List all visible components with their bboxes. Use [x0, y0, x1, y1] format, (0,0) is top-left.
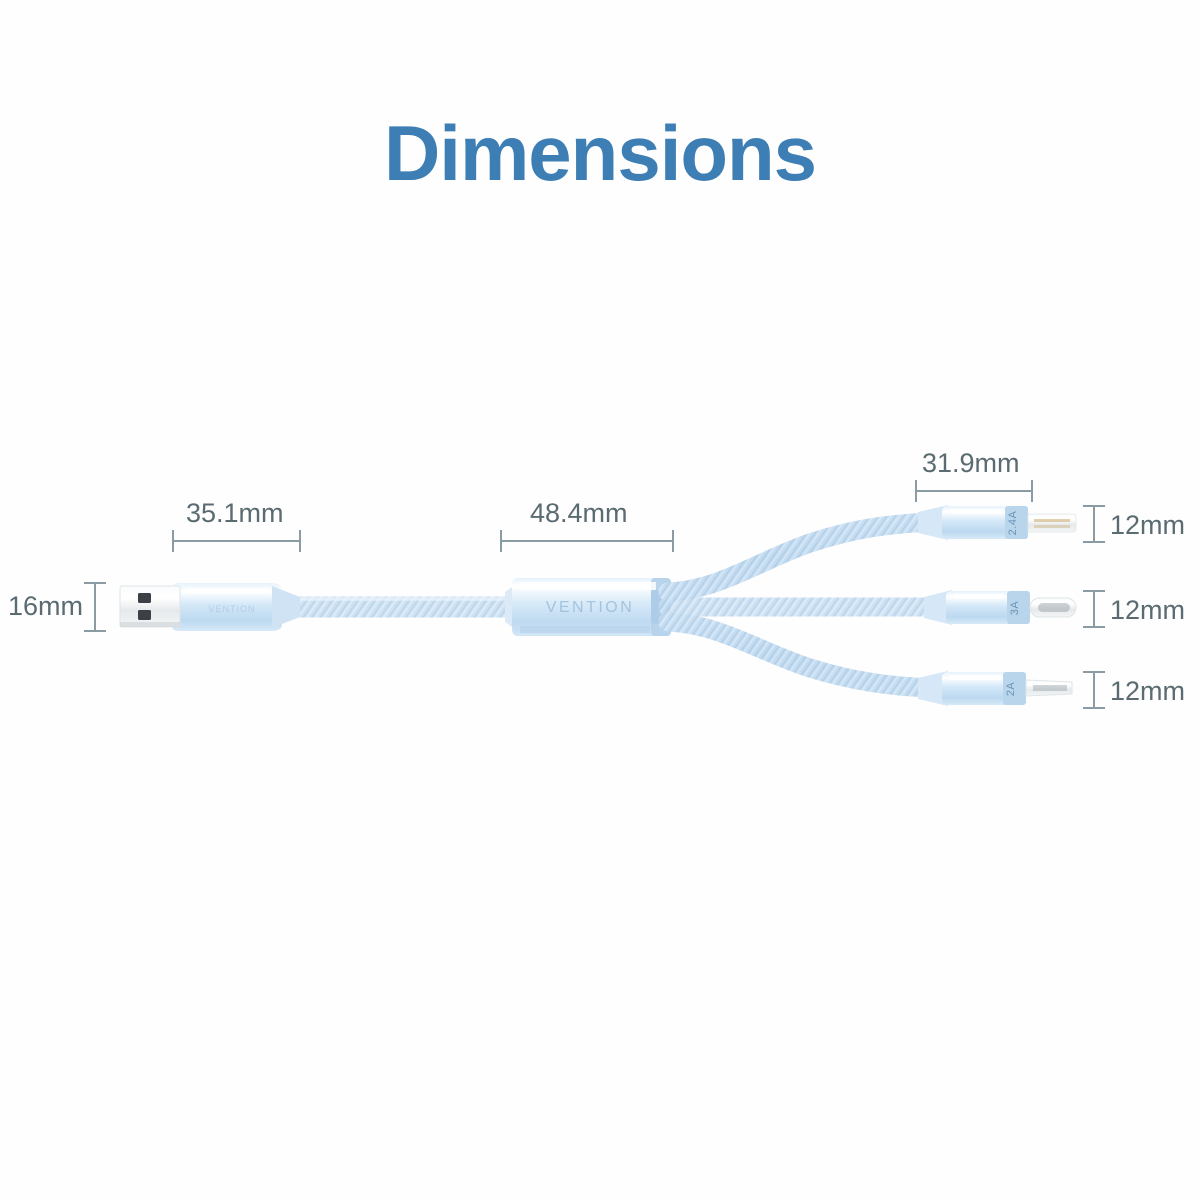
dimension-shaft [500, 540, 674, 542]
usb-a-connector: VENTION [120, 583, 300, 631]
dimension-shaft [915, 490, 1033, 492]
dimension-cap-bottom [1083, 626, 1105, 628]
dimension-bar-usb-a-width [84, 582, 106, 632]
svg-text:VENTION: VENTION [546, 599, 635, 616]
usb-c-connector: 3A [924, 590, 1076, 625]
dimension-label-tip-length: 31.9mm [922, 448, 1020, 479]
svg-text:VENTION: VENTION [208, 604, 255, 614]
dimensions-infographic: Dimensions [0, 0, 1200, 1200]
dimension-bar-usb-a-length [172, 530, 301, 552]
svg-text:3A: 3A [1009, 601, 1021, 616]
dimension-shaft [1093, 590, 1095, 628]
splitter-hub: VENTION [505, 578, 671, 636]
dimension-label-usb-a-length: 35.1mm [186, 498, 284, 529]
lightning-connector: 2.4A [918, 505, 1076, 540]
dimension-shaft [172, 540, 301, 542]
svg-text:2A: 2A [1005, 682, 1017, 697]
dimension-label-usbc-width: 12mm [1110, 595, 1185, 626]
page-title: Dimensions [0, 108, 1200, 199]
dimension-cap-right [1031, 480, 1033, 502]
micro-usb-connector: 2A [918, 671, 1072, 706]
dimension-label-usb-a-width: 16mm [8, 591, 83, 622]
dimension-bar-usbc-width [1083, 590, 1105, 628]
dimension-label-lightning-width: 12mm [1110, 510, 1185, 541]
dimension-shaft [1093, 671, 1095, 709]
branch-cable-micro [668, 622, 930, 688]
dimension-bar-micro-width [1083, 671, 1105, 709]
trunk-cable [282, 599, 512, 607]
dimension-cap-right [672, 530, 674, 552]
dimension-shaft [1093, 505, 1095, 543]
dimension-cap-right [299, 530, 301, 552]
dimension-cap-bottom [1083, 541, 1105, 543]
dimension-bar-hub-length [500, 530, 674, 552]
dimension-cap-bottom [1083, 707, 1105, 709]
dimension-label-micro-width: 12mm [1110, 676, 1185, 707]
dimension-bar-lightning-width [1083, 505, 1105, 543]
dimension-bar-tip-length [915, 480, 1033, 502]
dimension-label-hub-length: 48.4mm [530, 498, 628, 529]
dimension-shaft [94, 582, 96, 632]
branch-cable-lightning [668, 522, 930, 592]
dimension-cap-bottom [84, 630, 106, 632]
svg-text:2.4A: 2.4A [1007, 511, 1019, 536]
